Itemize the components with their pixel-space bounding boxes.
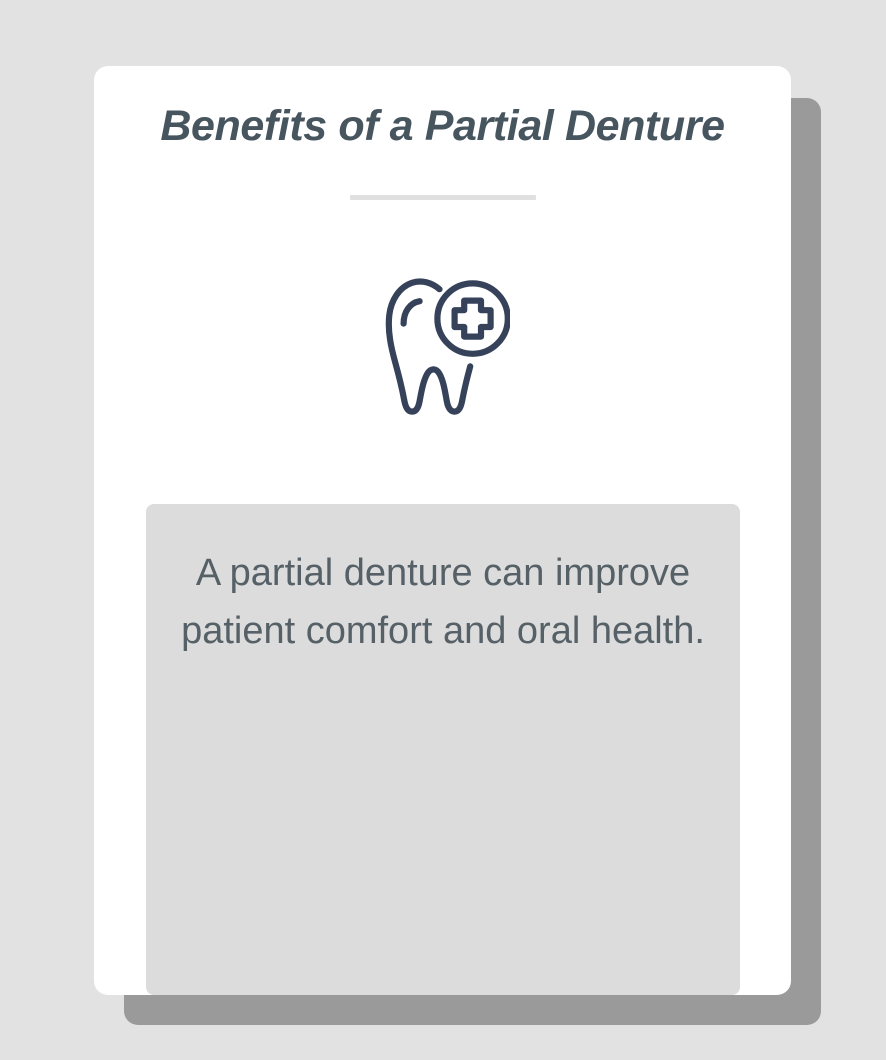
icon-container <box>94 271 791 421</box>
body-text: A partial denture can improve patient co… <box>146 544 740 660</box>
tooth-with-medical-cross-icon <box>376 273 510 419</box>
title-divider <box>350 195 536 200</box>
slide-canvas: Benefits of a Partial Denture <box>0 0 886 1060</box>
card-content: Benefits of a Partial Denture <box>94 66 791 995</box>
info-card: Benefits of a Partial Denture <box>94 66 791 995</box>
body-panel: A partial denture can improve patient co… <box>146 504 740 995</box>
page-title: Benefits of a Partial Denture <box>94 102 791 151</box>
